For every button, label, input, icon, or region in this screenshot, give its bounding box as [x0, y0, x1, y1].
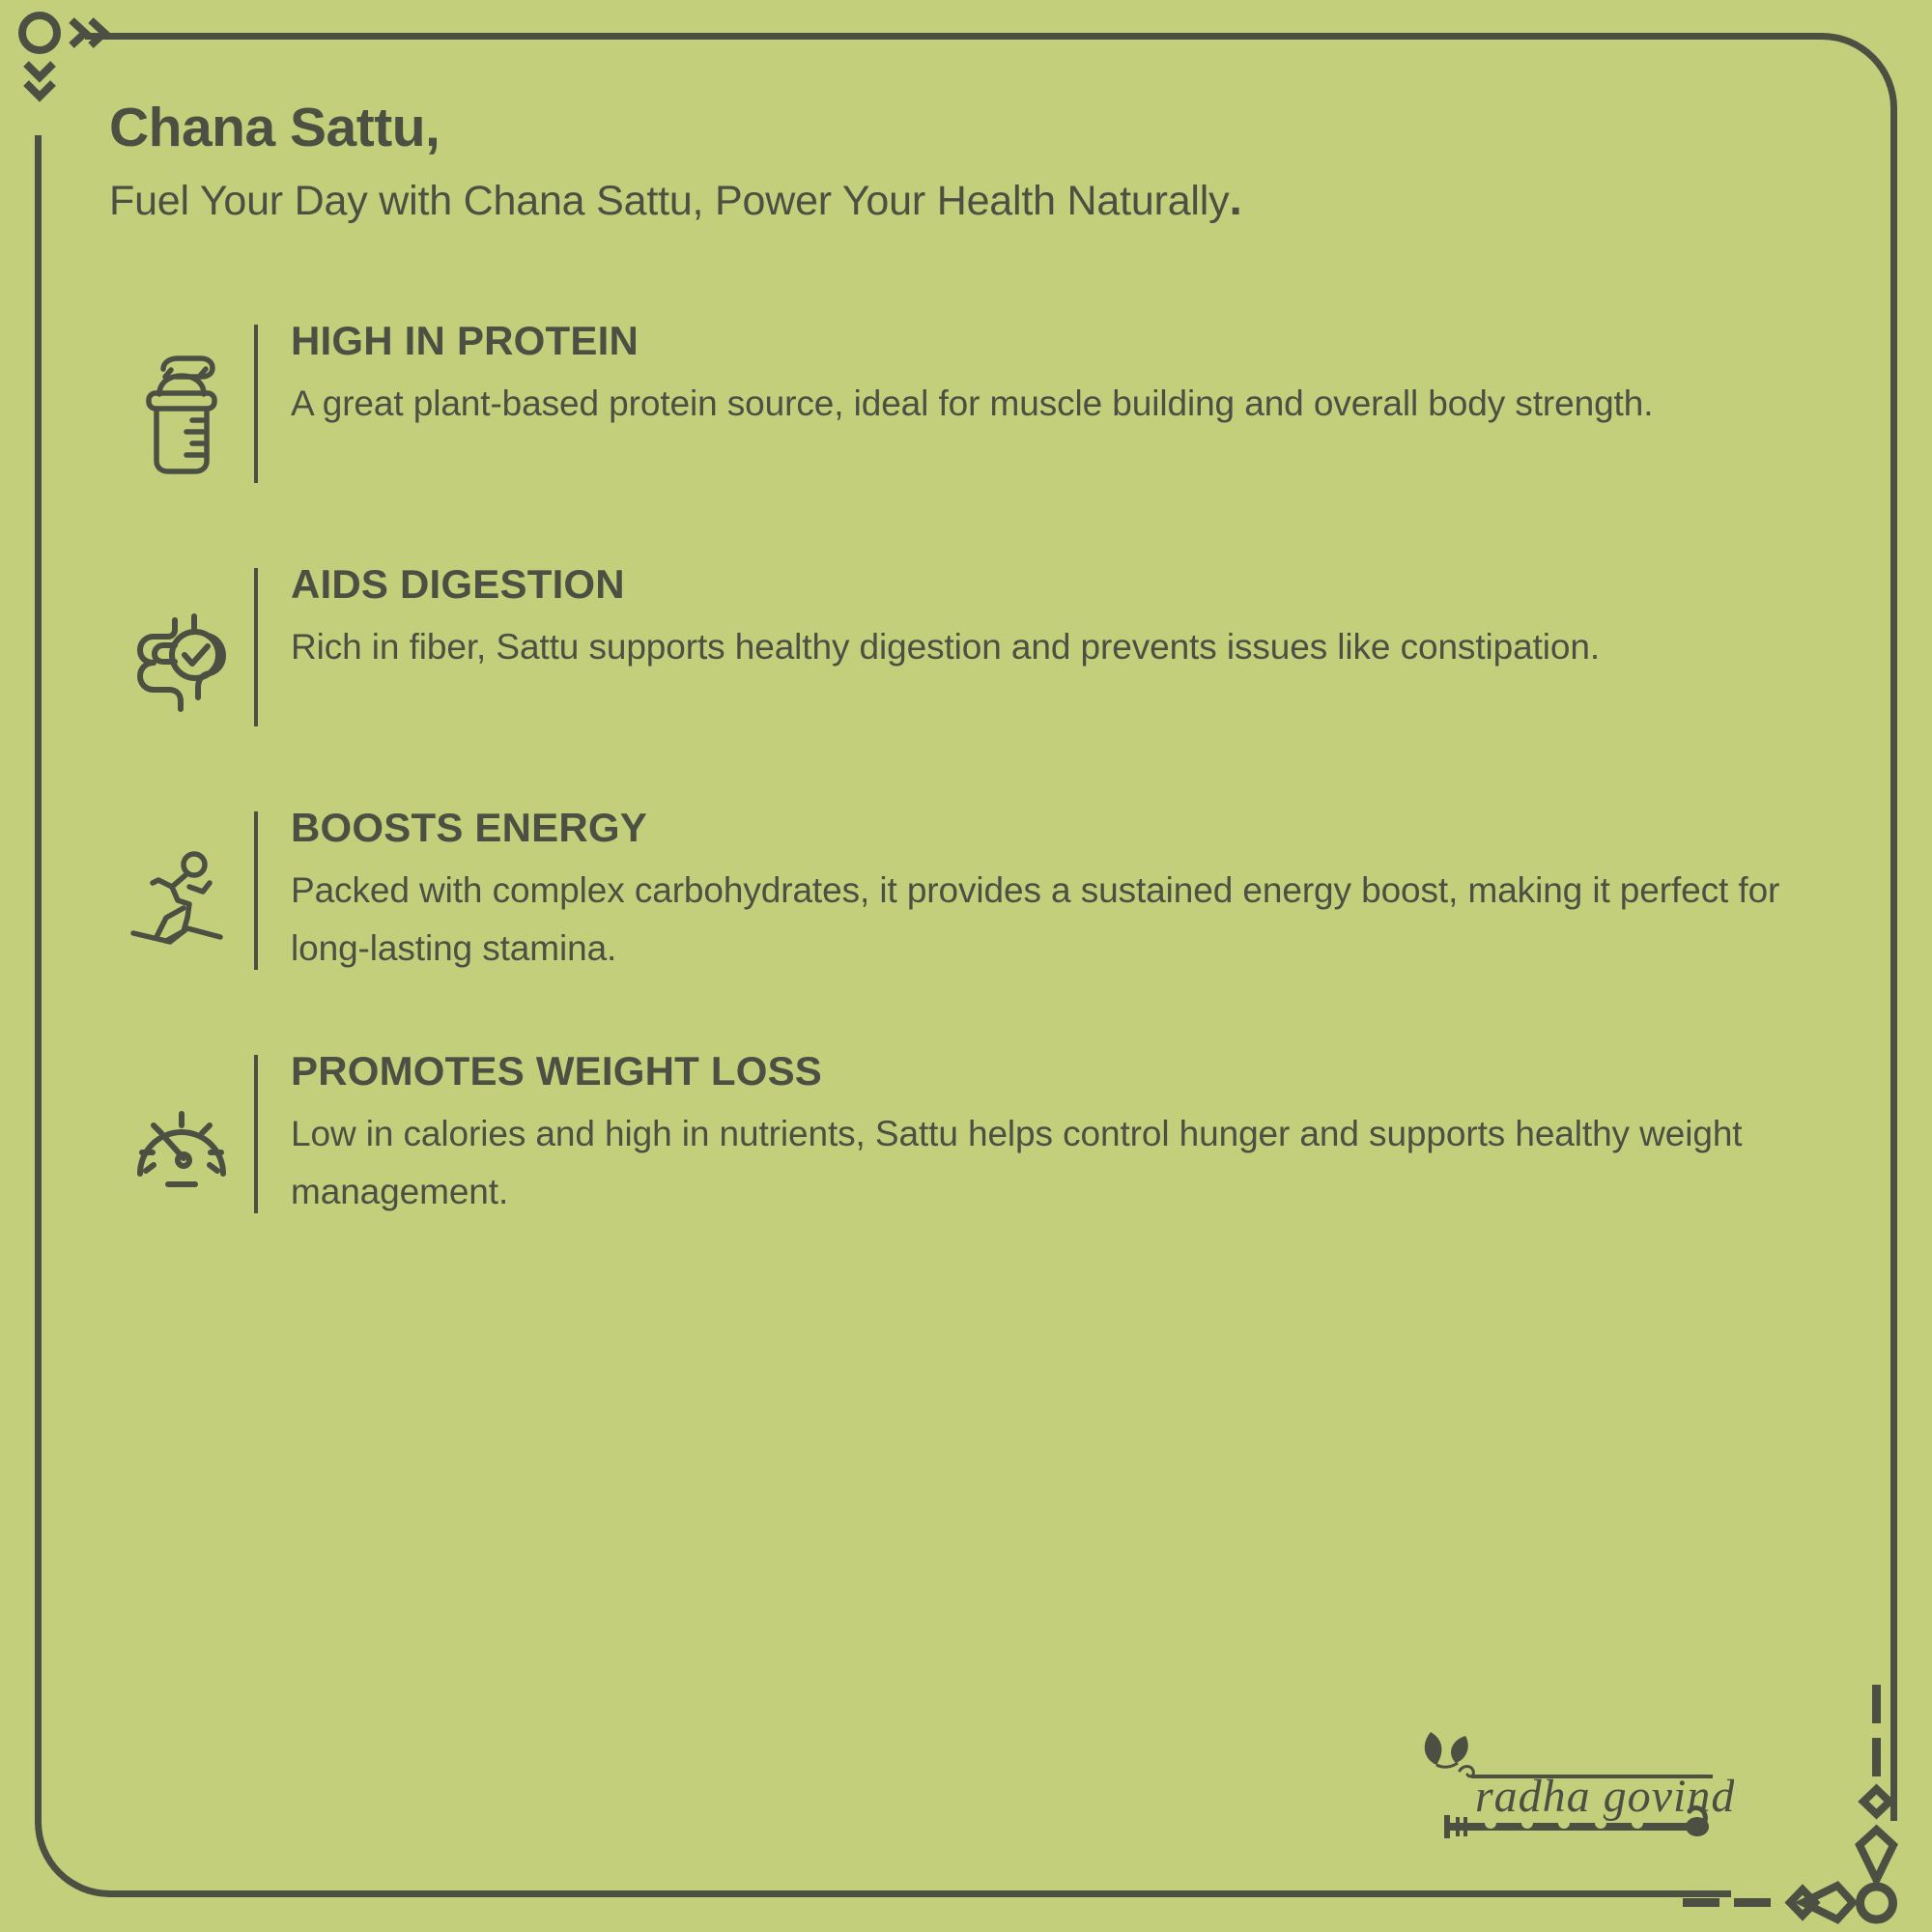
protein-shaker-icon	[109, 345, 254, 476]
feature-description: Packed with complex carbohydrates, it pr…	[291, 862, 1858, 979]
feature-description: Low in calories and high in nutrients, S…	[291, 1105, 1858, 1222]
feature-divider	[254, 568, 258, 726]
frame-corner-bottom-left	[35, 1820, 112, 1897]
frame-top-border	[85, 33, 1824, 40]
page-subtitle-text: Fuel Your Day with Chana Sattu, Power Yo…	[109, 178, 1229, 224]
feature-item-high-in-protein: HIGH IN PROTEIN A great plant-based prot…	[109, 319, 1858, 502]
feature-divider	[254, 1055, 258, 1213]
digestive-system-check-icon	[109, 593, 254, 715]
running-person-icon	[109, 840, 254, 954]
frame-left-border	[35, 135, 42, 1824]
feature-title: HIGH IN PROTEIN	[291, 319, 1858, 363]
feature-body: PROMOTES WEIGHT LOSS Low in calories and…	[291, 1049, 1858, 1222]
speedometer-gauge-icon	[109, 1089, 254, 1193]
leaf-sprig-icon	[1425, 1732, 1468, 1767]
feature-item-boosts-energy: BOOSTS ENERGY Packed with complex carboh…	[109, 806, 1858, 989]
feature-description: A great plant-based protein source, idea…	[291, 375, 1858, 433]
page-subtitle: Fuel Your Day with Chana Sattu, Power Yo…	[109, 172, 1848, 228]
feature-item-promotes-weight-loss: PROMOTES WEIGHT LOSS Low in calories and…	[109, 1049, 1858, 1233]
feature-divider	[254, 811, 258, 970]
brand-logo: radha govind	[1415, 1715, 1734, 1869]
feature-title: BOOSTS ENERGY	[291, 806, 1858, 850]
frame-bottom-border	[108, 1890, 1731, 1897]
frame-right-border	[1890, 106, 1897, 1821]
feature-body: BOOSTS ENERGY Packed with complex carboh…	[291, 806, 1858, 979]
feature-item-aids-digestion: AIDS DIGESTION Rich in fiber, Sattu supp…	[109, 562, 1858, 746]
feature-body: AIDS DIGESTION Rich in fiber, Sattu supp…	[291, 562, 1858, 676]
feature-title: AIDS DIGESTION	[291, 562, 1858, 607]
page-title: Chana Sattu,	[109, 97, 1848, 160]
feature-description: Rich in fiber, Sattu supports healthy di…	[291, 618, 1858, 676]
feature-divider	[254, 325, 258, 483]
header: Chana Sattu, Fuel Your Day with Chana Sa…	[109, 97, 1848, 227]
feature-list: HIGH IN PROTEIN A great plant-based prot…	[109, 319, 1858, 1293]
page-subtitle-period: .	[1229, 174, 1241, 225]
brand-wordmark: radha govind	[1475, 1771, 1734, 1822]
feature-body: HIGH IN PROTEIN A great plant-based prot…	[291, 319, 1858, 433]
feature-title: PROMOTES WEIGHT LOSS	[291, 1049, 1858, 1094]
poster-canvas: Chana Sattu, Fuel Your Day with Chana Sa…	[0, 0, 1932, 1932]
